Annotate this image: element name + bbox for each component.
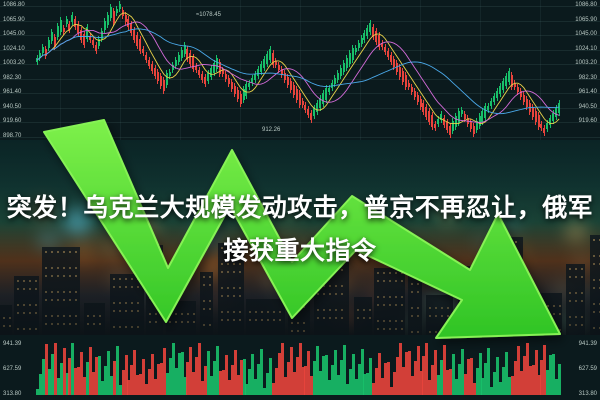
volume-bars-wrap: [0, 343, 600, 395]
page-title: 突发！乌克兰大规模发动攻击，普京不再忍让，俄军接获重大指令: [0, 186, 600, 272]
volume-bar: [558, 364, 561, 395]
news-image: 1086.801065.901045.001024.101003.20982.3…: [0, 0, 600, 400]
volume-bars: [0, 343, 600, 395]
